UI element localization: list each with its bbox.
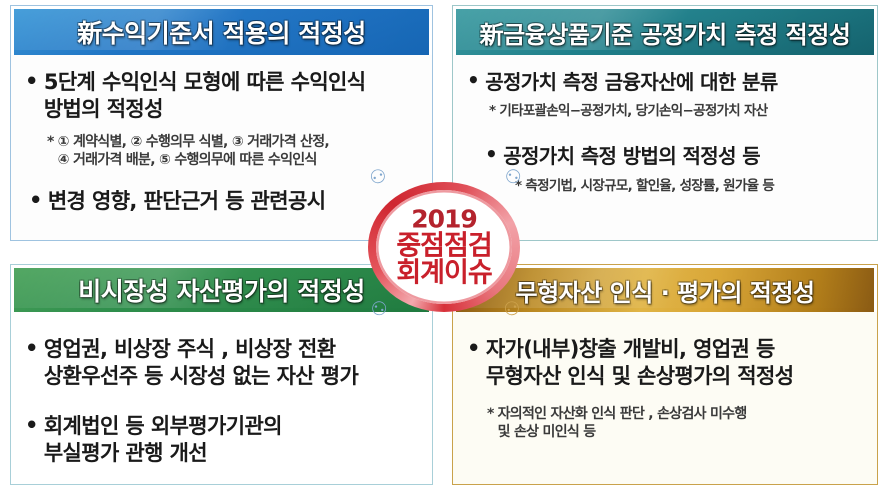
note-star-icon: * <box>489 103 495 121</box>
card-nonmarket-body: • 영업권, 비상장 주식 , 비상장 전환 상환우선주 등 시장성 없는 자산… <box>11 312 432 484</box>
card-fairvalue-header-label: 新금융상품기준 공정가치 측정 적정성 <box>480 15 851 50</box>
note-star-icon: * <box>487 405 494 423</box>
card-revenue-header: 新수익기준서 적용의 적정성 <box>14 9 429 55</box>
revenue-bullet-1-line1: 5단계 수익인식 모형에 따른 수익인식 <box>44 70 366 94</box>
card-revenue-standard: 新수익기준서 적용의 적정성 • 5단계 수익인식 모형에 따른 수익인식 방법… <box>10 5 433 241</box>
card-intangible-header: 무형자산 인식 · 평가의 적정성 <box>456 268 874 312</box>
note-star-icon: * <box>47 133 54 151</box>
fairvalue-bullet-1-text: 공정가치 측정 금융자산에 대한 분류 <box>485 69 863 95</box>
revenue-note-1-line2: ④ 거래가격 배분, ⑤ 수행의무에 따른 수익인식 <box>58 152 317 168</box>
bullet-dot-icon: • <box>25 69 38 93</box>
revenue-note-1-line1: ① 계약식별, ② 수행의무 식별, ③ 거래가격 산정, <box>58 134 329 150</box>
fairvalue-note-2: * 측정기법, 시장규모, 할인율, 성장률, 원가율 등 <box>515 178 863 196</box>
card-fair-value-measurement: 新금융상품기준 공정가치 측정 적정성 • 공정가치 측정 금융자산에 대한 분… <box>452 5 878 241</box>
revenue-note-1: * ① 계약식별, ② 수행의무 식별, ③ 거래가격 산정, ④ 거래가격 배… <box>47 133 418 170</box>
bullet-dot-icon: • <box>467 69 479 92</box>
card-nonmarket-header-label: 비시장성 자산평가의 적정성 <box>78 272 364 308</box>
intangible-bullet-1-line1: 자가(내부)창출 개발비, 영업권 등 <box>486 337 775 361</box>
card-fairvalue-header: 新금융상품기준 공정가치 측정 적정성 <box>456 9 874 55</box>
intangible-bullet-1-text: 자가(내부)창출 개발비, 영업권 등 무형자산 인식 및 손상평가의 적정성 <box>486 336 863 391</box>
intangible-bullet-1: • 자가(내부)창출 개발비, 영업권 등 무형자산 인식 및 손상평가의 적정… <box>467 336 863 391</box>
fairvalue-note-1: * 기타포괄손익−공정가치, 당기손익−공정가치 자산 <box>489 103 863 121</box>
card-revenue-body: • 5단계 수익인식 모형에 따른 수익인식 방법의 적정성 * ① 계약식별,… <box>11 55 432 240</box>
card-intangible-body: • 자가(내부)창출 개발비, 영업권 등 무형자산 인식 및 손상평가의 적정… <box>453 312 877 484</box>
intangible-note-1-line2: 및 손상 미인식 등 <box>498 424 596 440</box>
nonmarket-bullet-2-text: 회계법인 등 외부평가기관의 부실평가 관행 개선 <box>44 413 418 468</box>
revenue-bullet-1: • 5단계 수익인식 모형에 따른 수익인식 방법의 적정성 <box>25 69 418 124</box>
nonmarket-bullet-2-line2: 부실평가 관행 개선 <box>44 441 207 465</box>
note-star-icon: * <box>515 178 521 196</box>
nonmarket-bullet-2-line1: 회계법인 등 외부평가기관의 <box>44 414 282 438</box>
fairvalue-bullet-2: • 공정가치 측정 방법의 적정성 등 <box>485 143 863 169</box>
revenue-bullet-1-line2: 방법의 적정성 <box>44 97 163 121</box>
intangible-note-1: * 자의적인 자산화 인식 판단 , 손상검사 미수행 및 손상 미인식 등 <box>487 405 863 442</box>
card-intangible-asset-recognition: 무형자산 인식 · 평가의 적정성 • 자가(내부)창출 개발비, 영업권 등 … <box>452 264 878 485</box>
fairvalue-note-2-text: 측정기법, 시장규모, 할인율, 성장률, 원가율 등 <box>525 178 863 196</box>
bullet-dot-icon: • <box>485 143 497 166</box>
revenue-bullet-2-text: 변경 영향, 판단근거 등 관련공시 <box>48 188 418 215</box>
nonmarket-bullet-1: • 영업권, 비상장 주식 , 비상장 전환 상환우선주 등 시장성 없는 자산… <box>25 336 418 391</box>
card-nonmarket-header: 비시장성 자산평가의 적정성 <box>14 268 429 312</box>
revenue-bullet-1-text: 5단계 수익인식 모형에 따른 수익인식 방법의 적정성 <box>44 69 418 124</box>
card-non-market-asset-valuation: 비시장성 자산평가의 적정성 • 영업권, 비상장 주식 , 비상장 전환 상환… <box>10 264 433 485</box>
intangible-note-1-text: 자의적인 자산화 인식 판단 , 손상검사 미수행 및 손상 미인식 등 <box>498 405 863 442</box>
nonmarket-bullet-1-line2: 상환우선주 등 시장성 없는 자산 평가 <box>44 364 358 388</box>
fairvalue-note-1-text: 기타포괄손익−공정가치, 당기손익−공정가치 자산 <box>499 103 863 121</box>
infographic-canvas: 新수익기준서 적용의 적정성 • 5단계 수익인식 모형에 따른 수익인식 방법… <box>0 0 888 490</box>
card-fairvalue-body: • 공정가치 측정 금융자산에 대한 분류 * 기타포괄손익−공정가치, 당기손… <box>453 55 877 240</box>
revenue-note-1-text: ① 계약식별, ② 수행의무 식별, ③ 거래가격 산정, ④ 거래가격 배분,… <box>58 133 418 170</box>
card-revenue-header-label: 新수익기준서 적용의 적정성 <box>77 14 365 50</box>
card-intangible-header-label: 무형자산 인식 · 평가의 적정성 <box>516 273 815 308</box>
nonmarket-bullet-1-line1: 영업권, 비상장 주식 , 비상장 전환 <box>44 337 336 361</box>
bullet-dot-icon: • <box>25 336 38 360</box>
intangible-note-1-line1: 자의적인 자산화 인식 판단 , 손상검사 미수행 <box>498 406 747 422</box>
fairvalue-bullet-2-text: 공정가치 측정 방법의 적정성 등 <box>503 143 863 169</box>
bullet-dot-icon: • <box>25 413 38 437</box>
revenue-bullet-2: • 변경 영향, 판단근거 등 관련공시 <box>29 188 418 215</box>
bullet-dot-icon: • <box>29 188 42 212</box>
nonmarket-bullet-1-text: 영업권, 비상장 주식 , 비상장 전환 상환우선주 등 시장성 없는 자산 평… <box>44 336 418 391</box>
bullet-dot-icon: • <box>467 336 480 360</box>
nonmarket-bullet-2: • 회계법인 등 외부평가기관의 부실평가 관행 개선 <box>25 413 418 468</box>
fairvalue-bullet-1: • 공정가치 측정 금융자산에 대한 분류 <box>467 69 863 95</box>
intangible-bullet-1-line2: 무형자산 인식 및 손상평가의 적정성 <box>486 364 794 388</box>
